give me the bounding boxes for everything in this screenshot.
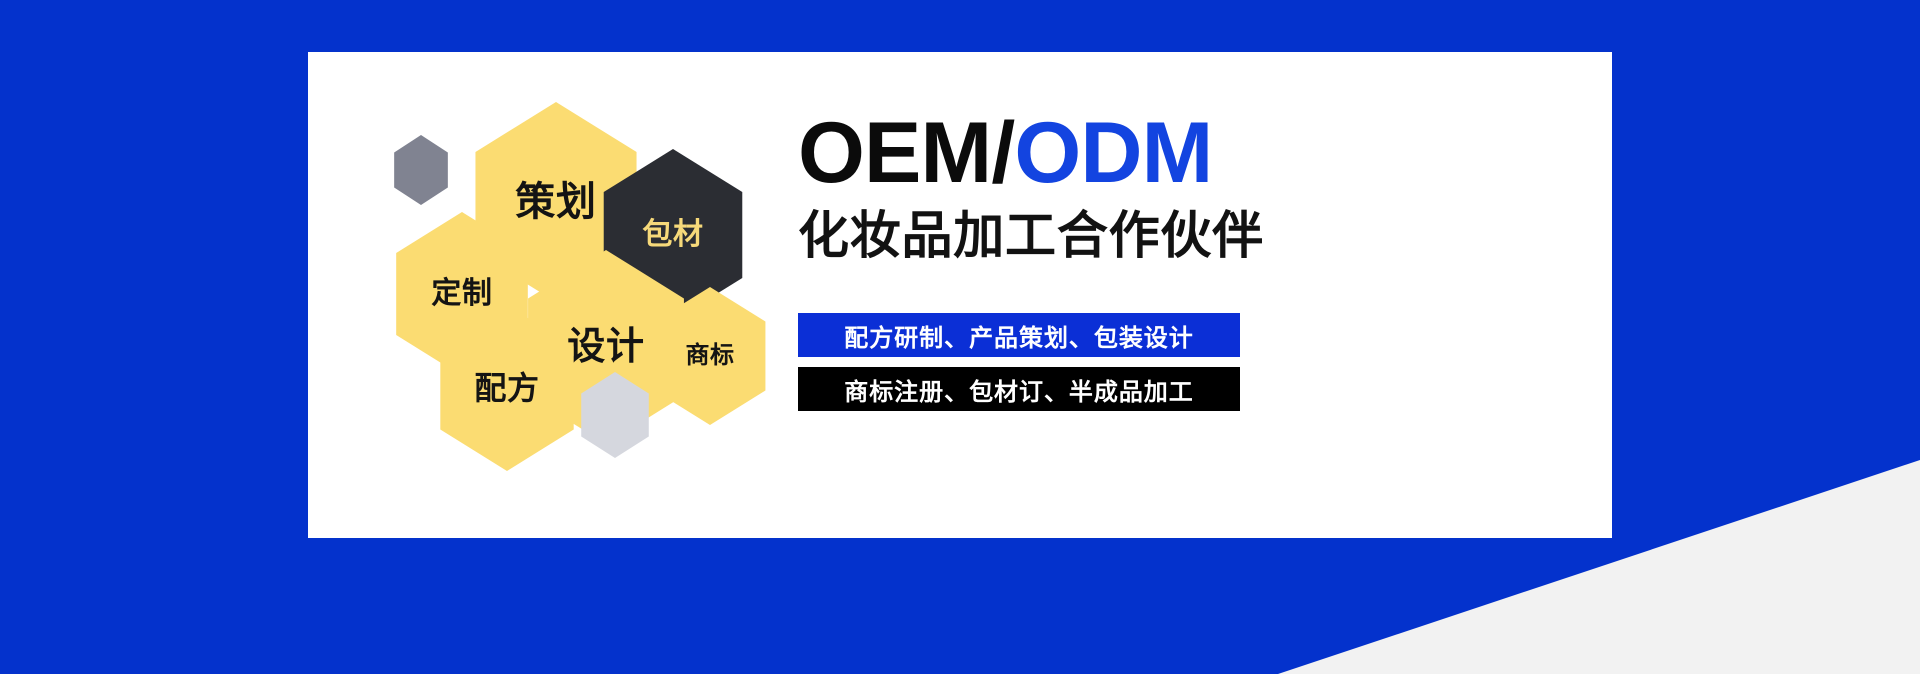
headline-oem: OEM/ xyxy=(798,105,1014,201)
hexagon-label: 商标 xyxy=(686,344,735,368)
page-title: OEM/ODM xyxy=(798,110,1498,196)
service-tag-secondary: 商标注册、包材订、半成品加工 xyxy=(798,367,1240,411)
headline-block: OEM/ODM 化妆品加工合作伙伴 配方研制、产品策划、包装设计 商标注册、包材… xyxy=(798,110,1498,411)
service-tag-primary: 配方研制、产品策划、包装设计 xyxy=(798,313,1240,357)
page-subtitle: 化妆品加工合作伙伴 xyxy=(798,210,1498,261)
headline-odm: ODM xyxy=(1014,105,1212,201)
hexagon-label: 设计 xyxy=(567,328,645,366)
hexagon-label: 配方 xyxy=(474,372,539,404)
hexagon-label: 策划 xyxy=(515,182,597,222)
banner-card: 策划 包材 定制 设计 商标 配方 OEM/ODM 化妆品加工合作伙伴 配方研制… xyxy=(308,52,1612,538)
hexagon-label: 定制 xyxy=(431,279,492,309)
hexagon-label: 包材 xyxy=(642,220,703,250)
service-tag-label: 配方研制、产品策划、包装设计 xyxy=(844,318,1193,353)
hexagon-decorative-gray xyxy=(390,135,452,205)
service-tag-label: 商标注册、包材订、半成品加工 xyxy=(844,372,1193,407)
